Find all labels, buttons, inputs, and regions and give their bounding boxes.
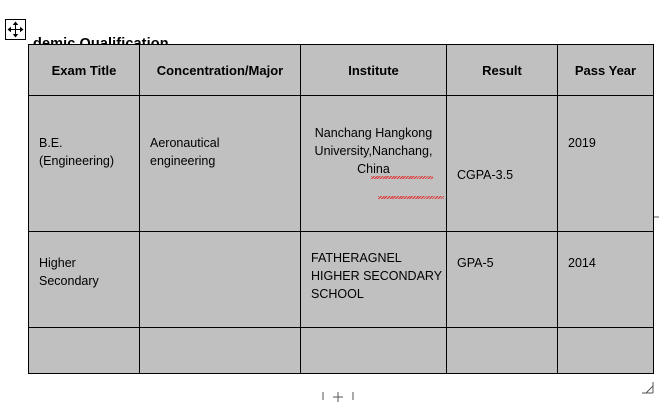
table-header-row: Exam Title Concentration/Major Institute… <box>29 45 654 96</box>
column-header-result[interactable]: Result <box>447 45 558 96</box>
result-value-row1: CGPA-3.5 <box>447 96 557 190</box>
document-page: demic Qualification <box>0 0 659 402</box>
table-row[interactable]: B.E. (Engineering) Aeronautical engineer… <box>29 96 654 232</box>
institute-line2: University,Nanchang, <box>311 142 436 160</box>
exam-title-line2: Secondary <box>39 272 129 290</box>
major-value-row3 <box>140 328 300 340</box>
exam-title-line1: B.E. <box>39 134 129 152</box>
table-header: Exam Title Concentration/Major Institute… <box>29 45 654 96</box>
institute-line1: Nanchang Hangkong <box>311 124 436 142</box>
pass-year-value-row2: 2014 <box>558 232 653 278</box>
institute-value-row3 <box>301 328 446 340</box>
exam-title-value-row3 <box>29 328 139 340</box>
cell-exam-title-row3[interactable] <box>29 328 140 374</box>
column-header-pass-year[interactable]: Pass Year <box>558 45 654 96</box>
cell-result-row2[interactable]: GPA-5 <box>447 232 558 328</box>
institute-line2: HIGHER SECONDARY <box>311 267 436 285</box>
cell-result-row1[interactable]: CGPA-3.5 <box>447 96 558 232</box>
move-table-icon[interactable] <box>5 19 26 40</box>
column-header-exam-title[interactable]: Exam Title <box>29 45 140 96</box>
exam-title-line2: (Engineering) <box>39 152 129 170</box>
cell-major-row3[interactable] <box>140 328 301 374</box>
cell-major-row2[interactable] <box>140 232 301 328</box>
spellcheck-underline-hangkong <box>371 176 433 179</box>
cell-institute-row1[interactable]: Nanchang Hangkong University,Nanchang, C… <box>301 96 447 232</box>
cell-pass-year-row2[interactable]: 2014 <box>558 232 654 328</box>
table-row[interactable]: Higher Secondary FATHERAGNEL HIGHER SECO… <box>29 232 654 328</box>
cell-exam-title-row1[interactable]: B.E. (Engineering) <box>29 96 140 232</box>
corner-resize-grip[interactable] <box>641 381 655 395</box>
bottom-edge-resize-handle[interactable] <box>322 390 354 402</box>
column-header-institute[interactable]: Institute <box>301 45 447 96</box>
column-header-major[interactable]: Concentration/Major <box>140 45 301 96</box>
table-body: B.E. (Engineering) Aeronautical engineer… <box>29 96 654 374</box>
exam-title-line1: Higher <box>39 254 129 272</box>
institute-line1: FATHERAGNEL <box>311 249 436 267</box>
pass-year-value-row3 <box>558 328 653 340</box>
spellcheck-underline-nanchang <box>378 196 444 199</box>
major-line1: Aeronautical <box>150 134 290 152</box>
result-value-row2: GPA-5 <box>447 232 557 278</box>
cell-institute-row3[interactable] <box>301 328 447 374</box>
cell-pass-year-row3[interactable] <box>558 328 654 374</box>
cell-pass-year-row1[interactable]: 2019 <box>558 96 654 232</box>
heading-row: demic Qualification <box>0 18 659 40</box>
result-value-row3 <box>447 328 557 340</box>
major-line2: engineering <box>150 152 290 170</box>
major-value-row2 <box>140 232 300 244</box>
cell-exam-title-row2[interactable]: Higher Secondary <box>29 232 140 328</box>
cell-institute-row2[interactable]: FATHERAGNEL HIGHER SECONDARY SCHOOL <box>301 232 447 328</box>
pass-year-value-row1: 2019 <box>558 96 653 158</box>
table-row[interactable] <box>29 328 654 374</box>
academic-qualification-table[interactable]: Exam Title Concentration/Major Institute… <box>28 44 654 374</box>
cell-major-row1[interactable]: Aeronautical engineering <box>140 96 301 232</box>
cell-result-row3[interactable] <box>447 328 558 374</box>
institute-line3: SCHOOL <box>311 285 436 303</box>
